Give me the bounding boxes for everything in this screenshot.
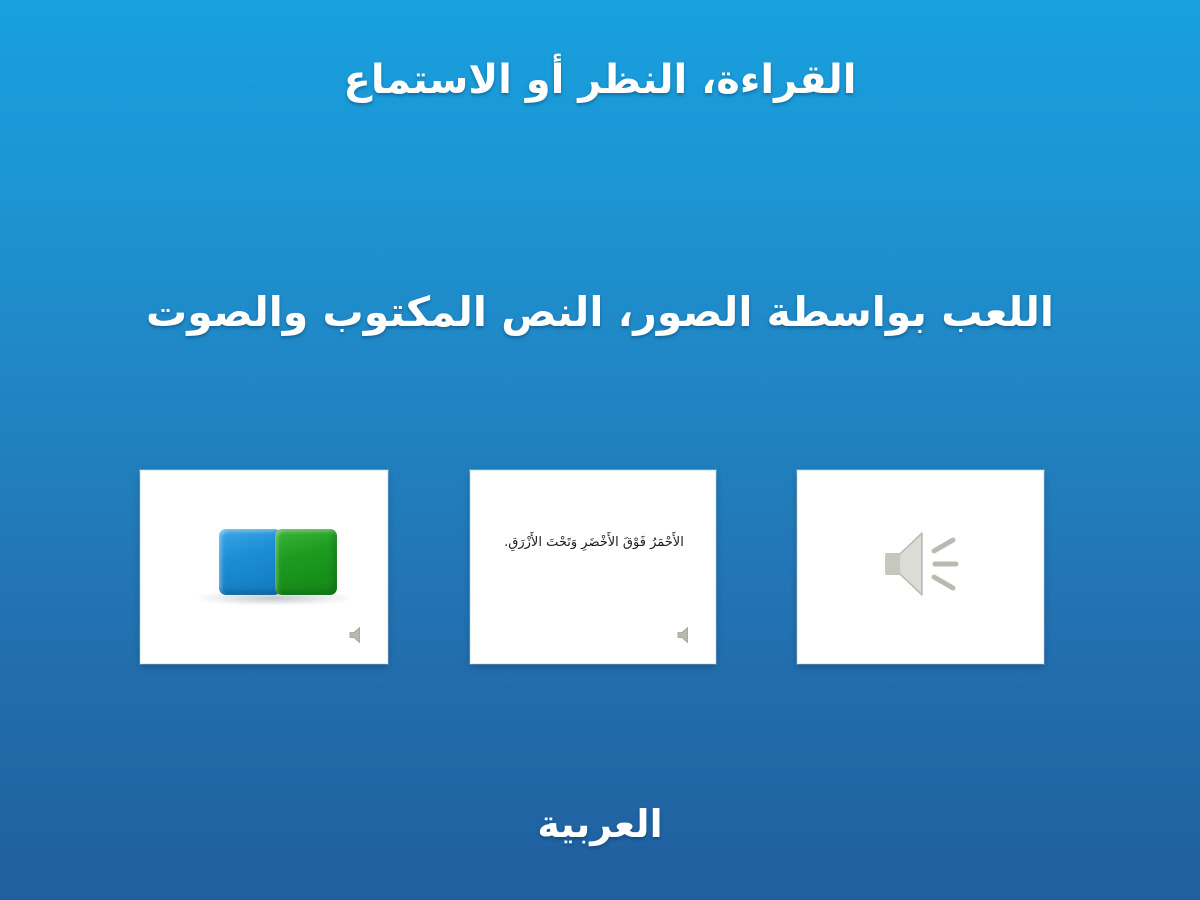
slide-root: القراءة، النظر أو الاستماع اللعب بواسطة … bbox=[0, 0, 1200, 900]
speaker-wave-icon[interactable] bbox=[880, 527, 962, 601]
language-label: العربية bbox=[0, 797, 1200, 851]
audio-card[interactable] bbox=[797, 470, 1044, 664]
green-cube bbox=[275, 529, 337, 595]
sentence-text: الأَحْمَرُ فَوْقَ الأَخْضَرِ وَتَحْتَ ال… bbox=[491, 533, 697, 552]
cube-illustration bbox=[191, 523, 351, 615]
image-card[interactable] bbox=[140, 470, 388, 664]
card-row: الأَحْمَرُ فَوْقَ الأَخْضَرِ وَتَحْتَ ال… bbox=[0, 470, 1200, 664]
blue-cube bbox=[219, 529, 281, 595]
speaker-icon[interactable] bbox=[347, 625, 369, 645]
page-title: القراءة، النظر أو الاستماع bbox=[0, 52, 1200, 108]
text-card[interactable]: الأَحْمَرُ فَوْقَ الأَخْضَرِ وَتَحْتَ ال… bbox=[470, 470, 716, 664]
speaker-icon[interactable] bbox=[675, 625, 697, 645]
page-subtitle: اللعب بواسطة الصور، النص المكتوب والصوت bbox=[0, 283, 1200, 341]
